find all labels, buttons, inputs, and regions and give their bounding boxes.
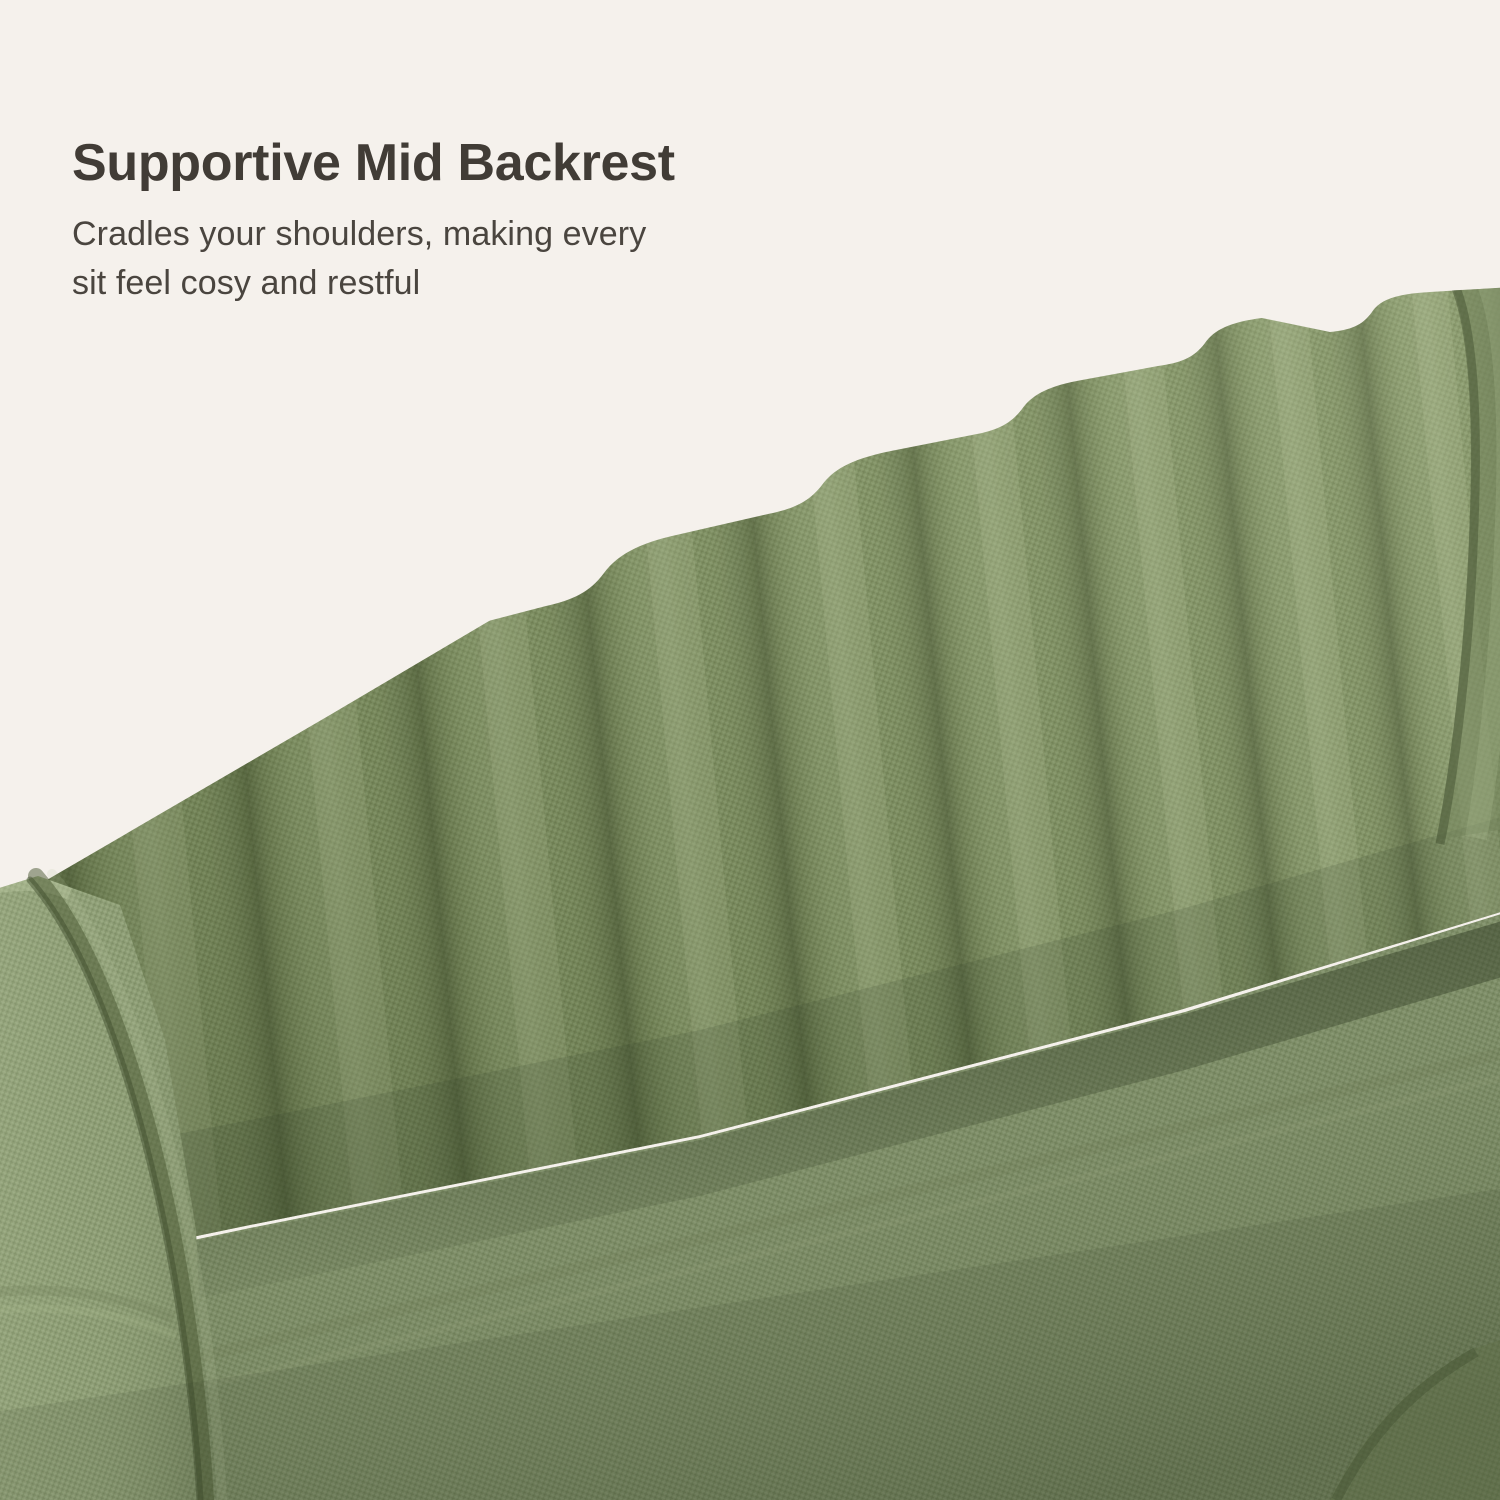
description-line-2: sit feel cosy and restful [72, 259, 892, 307]
feature-image-canvas: Supportive Mid Backrest Cradles your sho… [0, 0, 1500, 1500]
feature-copy-block: Supportive Mid Backrest Cradles your sho… [72, 134, 892, 307]
description-line-1: Cradles your shoulders, making every [72, 210, 892, 258]
page-title: Supportive Mid Backrest [72, 134, 892, 192]
feature-description: Cradles your shoulders, making every sit… [72, 210, 892, 307]
